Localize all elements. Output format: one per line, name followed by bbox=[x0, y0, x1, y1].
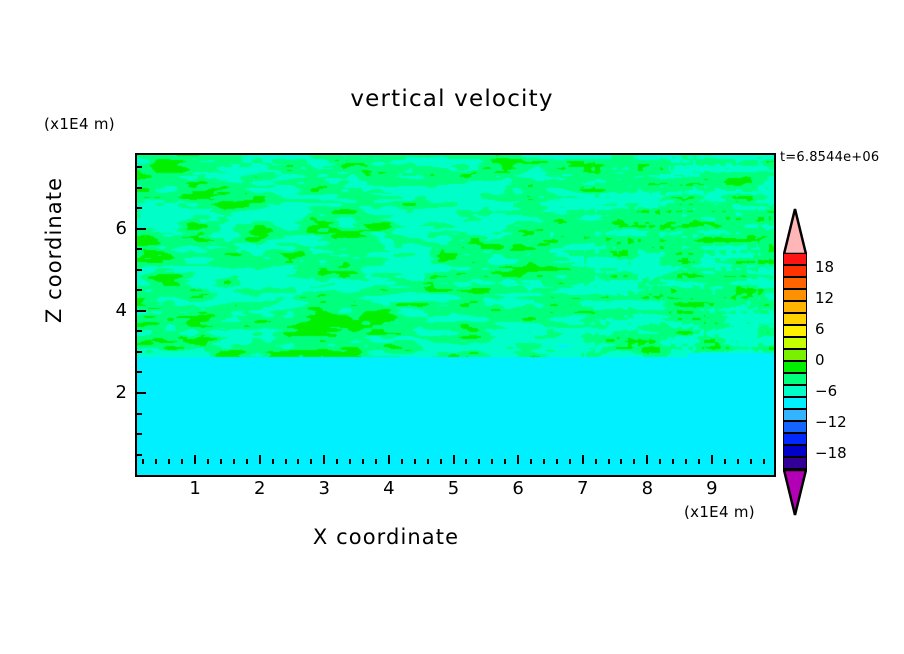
x-tick-minor bbox=[297, 459, 299, 464]
x-tick-minor bbox=[233, 459, 235, 464]
colorbar-band bbox=[783, 421, 807, 433]
colorbar-band bbox=[783, 301, 807, 313]
x-tick-minor bbox=[285, 459, 287, 464]
x-tick-major bbox=[388, 455, 390, 464]
x-tick-major bbox=[517, 455, 519, 464]
x-tick-minor bbox=[440, 459, 442, 464]
x-tick-label: 8 bbox=[627, 478, 667, 499]
x-tick-label: 7 bbox=[563, 478, 603, 499]
x-tick-minor bbox=[478, 459, 480, 464]
colorbar-band bbox=[783, 385, 807, 397]
x-tick-major bbox=[259, 455, 261, 464]
y-tick-minor bbox=[137, 269, 142, 271]
y-tick-minor bbox=[137, 454, 142, 456]
x-tick-minor bbox=[504, 459, 506, 464]
x-tick-minor bbox=[724, 459, 726, 464]
x-tick-label: 9 bbox=[692, 478, 732, 499]
y-tick-major bbox=[137, 310, 146, 312]
x-tick-major bbox=[453, 455, 455, 464]
colorbar-band bbox=[783, 313, 807, 325]
colorbar-tick-label: 0 bbox=[815, 351, 825, 369]
colorbar bbox=[783, 253, 807, 469]
x-tick-minor bbox=[362, 459, 364, 464]
colorbar-band bbox=[783, 409, 807, 421]
x-tick-minor bbox=[569, 459, 571, 464]
x-tick-minor bbox=[763, 459, 765, 464]
x-tick-minor bbox=[142, 459, 144, 464]
y-axis-unit-label: (x1E4 m) bbox=[44, 115, 115, 133]
x-tick-minor bbox=[685, 459, 687, 464]
colorbar-band bbox=[783, 397, 807, 409]
x-tick-minor bbox=[530, 459, 532, 464]
colorbar-band bbox=[783, 373, 807, 385]
x-tick-label: 4 bbox=[369, 478, 409, 499]
x-tick-minor bbox=[659, 459, 661, 464]
colorbar-tick-label: −12 bbox=[815, 413, 847, 431]
x-tick-minor bbox=[310, 459, 312, 464]
y-tick-label: 2 bbox=[95, 382, 127, 403]
x-tick-minor bbox=[220, 459, 222, 464]
y-tick-minor bbox=[137, 351, 142, 353]
x-tick-minor bbox=[401, 459, 403, 464]
y-tick-label: 6 bbox=[95, 218, 127, 239]
x-tick-label: 3 bbox=[304, 478, 344, 499]
colorbar-band bbox=[783, 265, 807, 277]
y-tick-minor bbox=[137, 207, 142, 209]
colorbar-band bbox=[783, 325, 807, 337]
x-tick-minor bbox=[349, 459, 351, 464]
colorbar-band bbox=[783, 457, 807, 469]
x-tick-minor bbox=[336, 459, 338, 464]
x-tick-minor bbox=[595, 459, 597, 464]
x-tick-minor bbox=[207, 459, 209, 464]
y-axis-title: Z coordinate bbox=[42, 150, 66, 350]
y-tick-minor bbox=[137, 371, 142, 373]
colorbar-tick-label: −6 bbox=[815, 382, 837, 400]
colorbar-tick-label: −18 bbox=[815, 444, 847, 462]
x-tick-label: 6 bbox=[498, 478, 538, 499]
vertical-velocity-field bbox=[137, 155, 774, 475]
x-tick-minor bbox=[272, 459, 274, 464]
x-tick-minor bbox=[465, 459, 467, 464]
x-tick-label: 5 bbox=[434, 478, 474, 499]
colorbar-tick-label: 6 bbox=[815, 320, 825, 338]
y-tick-minor bbox=[137, 187, 142, 189]
x-tick-major bbox=[323, 455, 325, 464]
colorbar-band bbox=[783, 349, 807, 361]
x-tick-minor bbox=[620, 459, 622, 464]
timestamp-label: t=6.8544e+06 bbox=[780, 150, 879, 165]
x-tick-minor bbox=[737, 459, 739, 464]
x-tick-minor bbox=[543, 459, 545, 464]
y-tick-minor bbox=[137, 166, 142, 168]
x-tick-major bbox=[711, 455, 713, 464]
x-tick-label: 2 bbox=[240, 478, 280, 499]
x-axis-unit-label: (x1E4 m) bbox=[684, 503, 755, 521]
colorbar-tick-label: 12 bbox=[815, 289, 834, 307]
x-tick-minor bbox=[750, 459, 752, 464]
y-tick-minor bbox=[137, 289, 142, 291]
page-title: vertical velocity bbox=[0, 86, 904, 112]
y-tick-major bbox=[137, 228, 146, 230]
x-tick-minor bbox=[181, 459, 183, 464]
colorbar-band bbox=[783, 253, 807, 265]
x-tick-minor bbox=[491, 459, 493, 464]
y-tick-label: 4 bbox=[95, 300, 127, 321]
x-tick-minor bbox=[155, 459, 157, 464]
figure-canvas: vertical velocity (x1E4 m) (x1E4 m) t=6.… bbox=[0, 0, 904, 654]
x-tick-minor bbox=[427, 459, 429, 464]
contour-plot-area bbox=[135, 153, 776, 477]
x-tick-major bbox=[194, 455, 196, 464]
y-tick-minor bbox=[137, 330, 142, 332]
colorbar-band bbox=[783, 277, 807, 289]
colorbar-band bbox=[783, 337, 807, 349]
colorbar-band bbox=[783, 289, 807, 301]
colorbar-band bbox=[783, 445, 807, 457]
y-tick-minor bbox=[137, 413, 142, 415]
x-tick-minor bbox=[375, 459, 377, 464]
y-tick-minor bbox=[137, 433, 142, 435]
x-tick-minor bbox=[608, 459, 610, 464]
x-tick-major bbox=[646, 455, 648, 464]
colorbar-band bbox=[783, 433, 807, 445]
y-tick-minor bbox=[137, 248, 142, 250]
x-tick-label: 1 bbox=[175, 478, 215, 499]
x-tick-minor bbox=[414, 459, 416, 464]
y-tick-major bbox=[137, 392, 146, 394]
colorbar-tick-label: 18 bbox=[815, 258, 834, 276]
x-tick-minor bbox=[698, 459, 700, 464]
x-tick-minor bbox=[168, 459, 170, 464]
x-tick-minor bbox=[672, 459, 674, 464]
x-axis-title: X coordinate bbox=[0, 525, 772, 549]
x-tick-minor bbox=[246, 459, 248, 464]
x-tick-minor bbox=[633, 459, 635, 464]
x-tick-major bbox=[582, 455, 584, 464]
x-tick-minor bbox=[556, 459, 558, 464]
colorbar-band bbox=[783, 361, 807, 373]
